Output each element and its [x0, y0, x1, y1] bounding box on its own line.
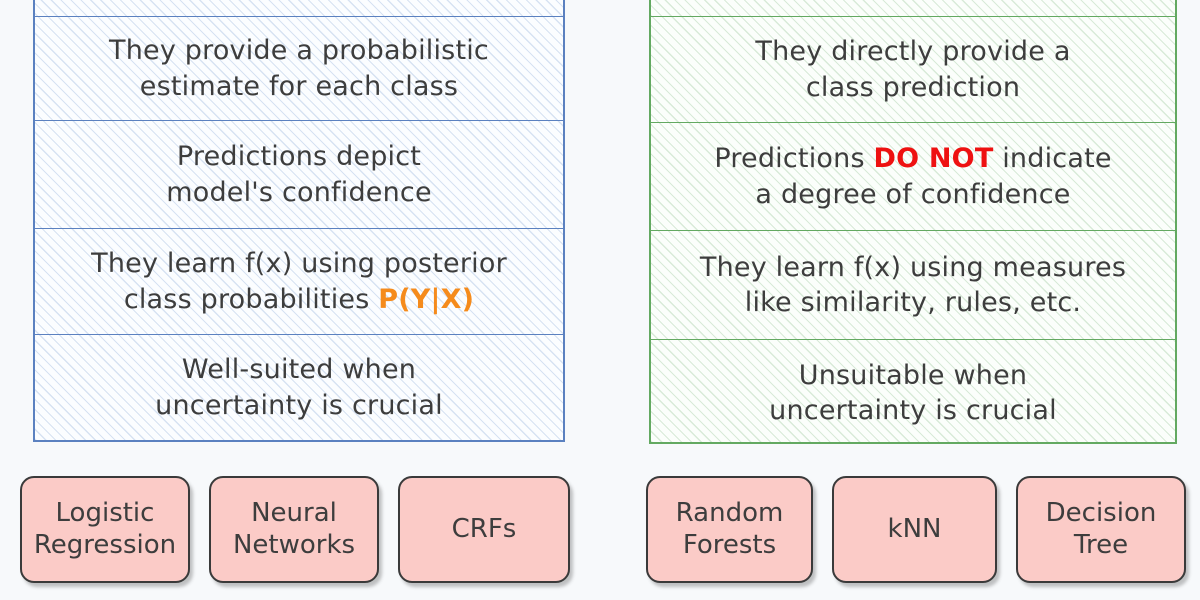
left-model-chip-row: Logistic Regression Neural Networks CRFs [20, 476, 570, 583]
line-2: uncertainty is crucial [769, 395, 1057, 426]
line-1: Unsuitable when [799, 360, 1027, 391]
left-row-well-suited-text: Well-suited when uncertainty is crucial [155, 352, 443, 422]
left-row-probabilistic-estimate-text: They provide a probabilistic estimate fo… [109, 33, 489, 103]
model-chip-logistic-regression-label: Logistic Regression [28, 498, 182, 561]
line-1: CRFs [452, 514, 517, 544]
line-1: Random [676, 498, 784, 528]
do-not-highlight: DO NOT [874, 143, 994, 174]
right-row-unsuitable-text: Unsuitable when uncertainty is crucial [769, 358, 1057, 428]
right-row-class-prediction: They directly provide a class prediction [651, 17, 1175, 123]
line-1: Decision [1046, 498, 1157, 528]
right-comparison-panel: They directly provide a class prediction… [649, 0, 1177, 444]
model-chip-knn-label: kNN [882, 514, 948, 546]
right-row-measures-text: They learn f(x) using measures like simi… [700, 250, 1126, 320]
line-1: They learn f(x) using measures [700, 252, 1126, 283]
right-row-no-confidence-text: Predictions DO NOT indicate a degree of … [714, 141, 1111, 211]
model-chip-neural-networks[interactable]: Neural Networks [209, 476, 379, 583]
model-chip-random-forests-label: Random Forests [670, 498, 790, 561]
line-1-suffix: indicate [993, 143, 1111, 174]
model-chip-crfs-label: CRFs [446, 514, 523, 546]
line-2: Networks [233, 530, 355, 560]
line-1: Neural [251, 498, 337, 528]
model-chip-neural-networks-label: Neural Networks [227, 498, 361, 561]
right-row-clipped-top [651, 0, 1175, 17]
line-2: model's confidence [166, 177, 432, 208]
comparison-diagram: They provide a probabilistic estimate fo… [0, 0, 1200, 600]
left-comparison-panel: They provide a probabilistic estimate fo… [33, 0, 565, 442]
posterior-probability-highlight: P(Y|X) [378, 284, 474, 315]
line-1: They directly provide a [755, 36, 1070, 67]
model-chip-random-forests[interactable]: Random Forests [646, 476, 813, 583]
left-row-well-suited: Well-suited when uncertainty is crucial [35, 335, 563, 440]
left-row-posterior: They learn f(x) using posterior class pr… [35, 229, 563, 335]
left-row-clipped-top [35, 0, 563, 17]
model-chip-crfs[interactable]: CRFs [398, 476, 570, 583]
line-2: Regression [34, 530, 176, 560]
left-row-probabilistic-estimate: They provide a probabilistic estimate fo… [35, 17, 563, 121]
line-2: uncertainty is crucial [155, 390, 443, 421]
left-panel-rows: They provide a probabilistic estimate fo… [35, 0, 563, 440]
line-1: Logistic [56, 498, 155, 528]
line-2-prefix: class probabilities [124, 284, 378, 315]
line-1: Well-suited when [182, 354, 416, 385]
line-2: like similarity, rules, etc. [745, 287, 1081, 318]
line-2: class prediction [806, 72, 1020, 103]
line-1: Predictions depict [177, 141, 421, 172]
line-1: kNN [888, 514, 942, 544]
model-chip-knn[interactable]: kNN [832, 476, 997, 583]
line-1: They learn f(x) using posterior [91, 248, 507, 279]
right-panel-rows: They directly provide a class prediction… [651, 0, 1175, 442]
right-row-measures: They learn f(x) using measures like simi… [651, 231, 1175, 340]
line-2: a degree of confidence [755, 179, 1070, 210]
model-chip-decision-tree-label: Decision Tree [1040, 498, 1163, 561]
model-chip-decision-tree[interactable]: Decision Tree [1016, 476, 1186, 583]
right-row-class-prediction-text: They directly provide a class prediction [755, 34, 1070, 104]
model-chip-logistic-regression[interactable]: Logistic Regression [20, 476, 190, 583]
left-row-posterior-text: They learn f(x) using posterior class pr… [91, 246, 507, 316]
line-1: They provide a probabilistic [109, 35, 489, 66]
line-1-prefix: Predictions [714, 143, 873, 174]
left-row-confidence-text: Predictions depict model's confidence [166, 139, 432, 209]
line-2: Forests [683, 530, 776, 560]
line-2: estimate for each class [140, 71, 458, 102]
right-model-chip-row: Random Forests kNN Decision Tree [646, 476, 1186, 583]
right-row-no-confidence: Predictions DO NOT indicate a degree of … [651, 123, 1175, 231]
right-row-unsuitable: Unsuitable when uncertainty is crucial [651, 340, 1175, 446]
left-row-confidence: Predictions depict model's confidence [35, 121, 563, 229]
line-2: Tree [1074, 530, 1128, 560]
